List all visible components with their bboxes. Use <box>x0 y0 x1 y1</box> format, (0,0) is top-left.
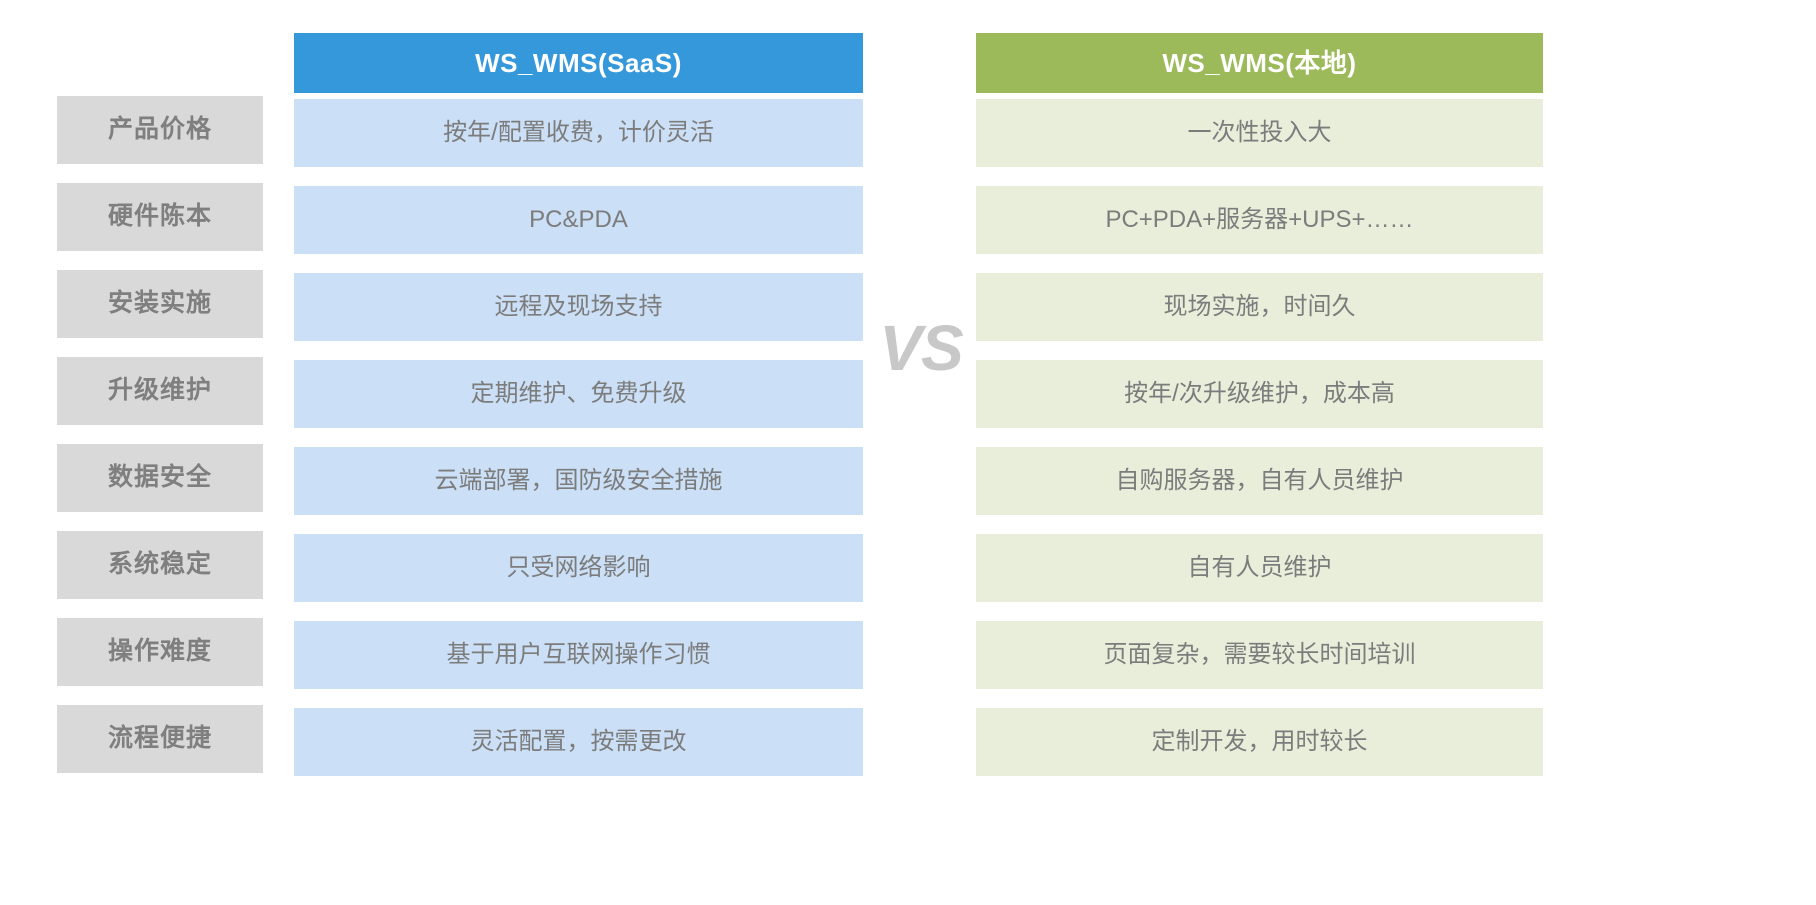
comparison-table: WS_WMS(SaaS) WS_WMS(本地) VS 产品价格 按年/配置收费，… <box>0 0 1816 905</box>
table-row-saas-value: 基于用户互联网操作习惯 <box>294 621 863 689</box>
table-row-local-value: 一次性投入大 <box>976 99 1543 167</box>
table-row-saas-value: 按年/配置收费，计价灵活 <box>294 99 863 167</box>
table-row-criteria: 操作难度 <box>57 618 263 686</box>
table-row-saas-value: 定期维护、免费升级 <box>294 360 863 428</box>
table-row-local-value: 自有人员维护 <box>976 534 1543 602</box>
table-row-saas-value: PC&PDA <box>294 186 863 254</box>
table-row-saas-value: 只受网络影响 <box>294 534 863 602</box>
table-row-local-value: 现场实施，时间久 <box>976 273 1543 341</box>
vs-badge: VS <box>869 308 973 388</box>
table-row-criteria: 数据安全 <box>57 444 263 512</box>
column-header-local: WS_WMS(本地) <box>976 33 1543 93</box>
column-header-saas: WS_WMS(SaaS) <box>294 33 863 93</box>
table-row-local-value: 自购服务器，自有人员维护 <box>976 447 1543 515</box>
table-row-saas-value: 云端部署，国防级安全措施 <box>294 447 863 515</box>
table-row-criteria: 流程便捷 <box>57 705 263 773</box>
table-row-criteria: 安装实施 <box>57 270 263 338</box>
table-row-criteria: 系统稳定 <box>57 531 263 599</box>
table-row-local-value: 按年/次升级维护，成本高 <box>976 360 1543 428</box>
table-row-criteria: 产品价格 <box>57 96 263 164</box>
table-row-local-value: 页面复杂，需要较长时间培训 <box>976 621 1543 689</box>
table-row-criteria: 硬件陈本 <box>57 183 263 251</box>
table-row-saas-value: 远程及现场支持 <box>294 273 863 341</box>
table-row-local-value: 定制开发，用时较长 <box>976 708 1543 776</box>
table-row-local-value: PC+PDA+服务器+UPS+…… <box>976 186 1543 254</box>
table-row-criteria: 升级维护 <box>57 357 263 425</box>
table-row-saas-value: 灵活配置，按需更改 <box>294 708 863 776</box>
